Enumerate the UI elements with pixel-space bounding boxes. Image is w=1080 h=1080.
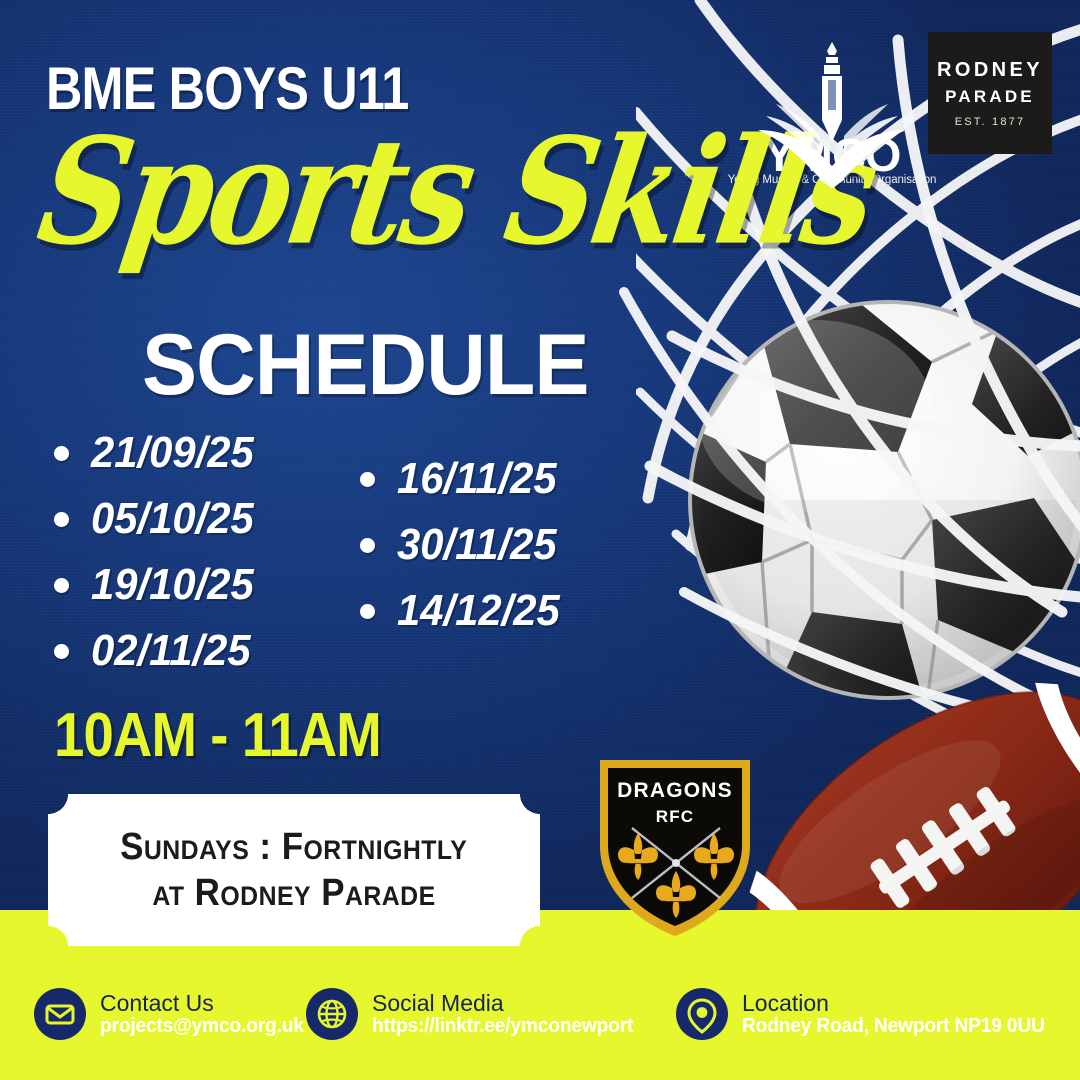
dragons-line-1: DRAGONS xyxy=(617,779,733,802)
dragons-rfc-logo: DRAGONS RFC xyxy=(592,750,758,936)
date-value: 19/10/25 xyxy=(91,560,254,610)
date-value: 21/09/25 xyxy=(91,428,254,478)
bullet-icon xyxy=(54,512,69,527)
list-item: 14/12/25 xyxy=(360,586,568,636)
date-value: 14/12/25 xyxy=(397,586,560,636)
footer-contact-item[interactable]: Contact Us projects@ymco.org.uk xyxy=(34,988,312,1040)
section-heading: SCHEDULE xyxy=(142,316,588,415)
banner-line-1: Sundays : Fortnightly xyxy=(120,824,467,870)
bullet-icon xyxy=(54,446,69,461)
list-item: 21/09/25 xyxy=(54,428,262,478)
footer-social-item[interactable]: Social Media https://linktr.ee/ymconewpo… xyxy=(306,988,644,1040)
date-value: 16/11/25 xyxy=(397,454,557,504)
social-url[interactable]: https://linktr.ee/ymconewport xyxy=(372,1016,633,1037)
bullet-icon xyxy=(360,472,375,487)
list-item: 30/11/25 xyxy=(360,520,568,570)
session-time: 10AM - 11AM xyxy=(54,700,381,771)
date-value: 02/11/25 xyxy=(91,626,251,676)
bullet-icon xyxy=(360,538,375,553)
bullet-icon xyxy=(54,578,69,593)
bullet-icon xyxy=(360,604,375,619)
social-label: Social Media xyxy=(372,991,644,1015)
rodney-established: EST. 1877 xyxy=(955,116,1026,128)
date-value: 05/10/25 xyxy=(91,494,254,544)
envelope-icon xyxy=(34,988,86,1040)
poster-canvas: BME BOYS U11 Sports Skills SCHEDULE 21/0… xyxy=(0,0,1080,1080)
globe-icon xyxy=(306,988,358,1040)
footer-location-item[interactable]: Location Rodney Road, Newport NP19 0UU xyxy=(676,988,1057,1040)
dragons-line-2: RFC xyxy=(656,807,695,826)
ymco-logo-icon xyxy=(742,38,922,188)
list-item: 05/10/25 xyxy=(54,494,262,544)
rodney-parade-logo: RODNEY PARADE EST. 1877 xyxy=(928,32,1052,154)
bullet-icon xyxy=(54,644,69,659)
location-address: Rodney Road, Newport NP19 0UU xyxy=(742,1016,1045,1037)
footer-contact-bar: Contact Us projects@ymco.org.uk Social M… xyxy=(0,910,1080,1080)
rodney-line-2: PARADE xyxy=(945,87,1035,107)
rodney-line-1: RODNEY xyxy=(937,59,1043,82)
list-item: 16/11/25 xyxy=(360,454,568,504)
contact-email[interactable]: projects@ymco.org.uk xyxy=(100,1016,304,1037)
schedule-dates-right: 16/11/25 30/11/25 14/12/25 xyxy=(360,454,568,652)
list-item: 19/10/25 xyxy=(54,560,262,610)
list-item: 02/11/25 xyxy=(54,626,262,676)
schedule-dates-left: 21/09/25 05/10/25 19/10/25 02/11/25 xyxy=(54,428,262,692)
map-pin-icon xyxy=(676,988,728,1040)
location-label: Location xyxy=(742,991,1057,1015)
contact-label: Contact Us xyxy=(100,991,312,1015)
date-value: 30/11/25 xyxy=(397,520,557,570)
